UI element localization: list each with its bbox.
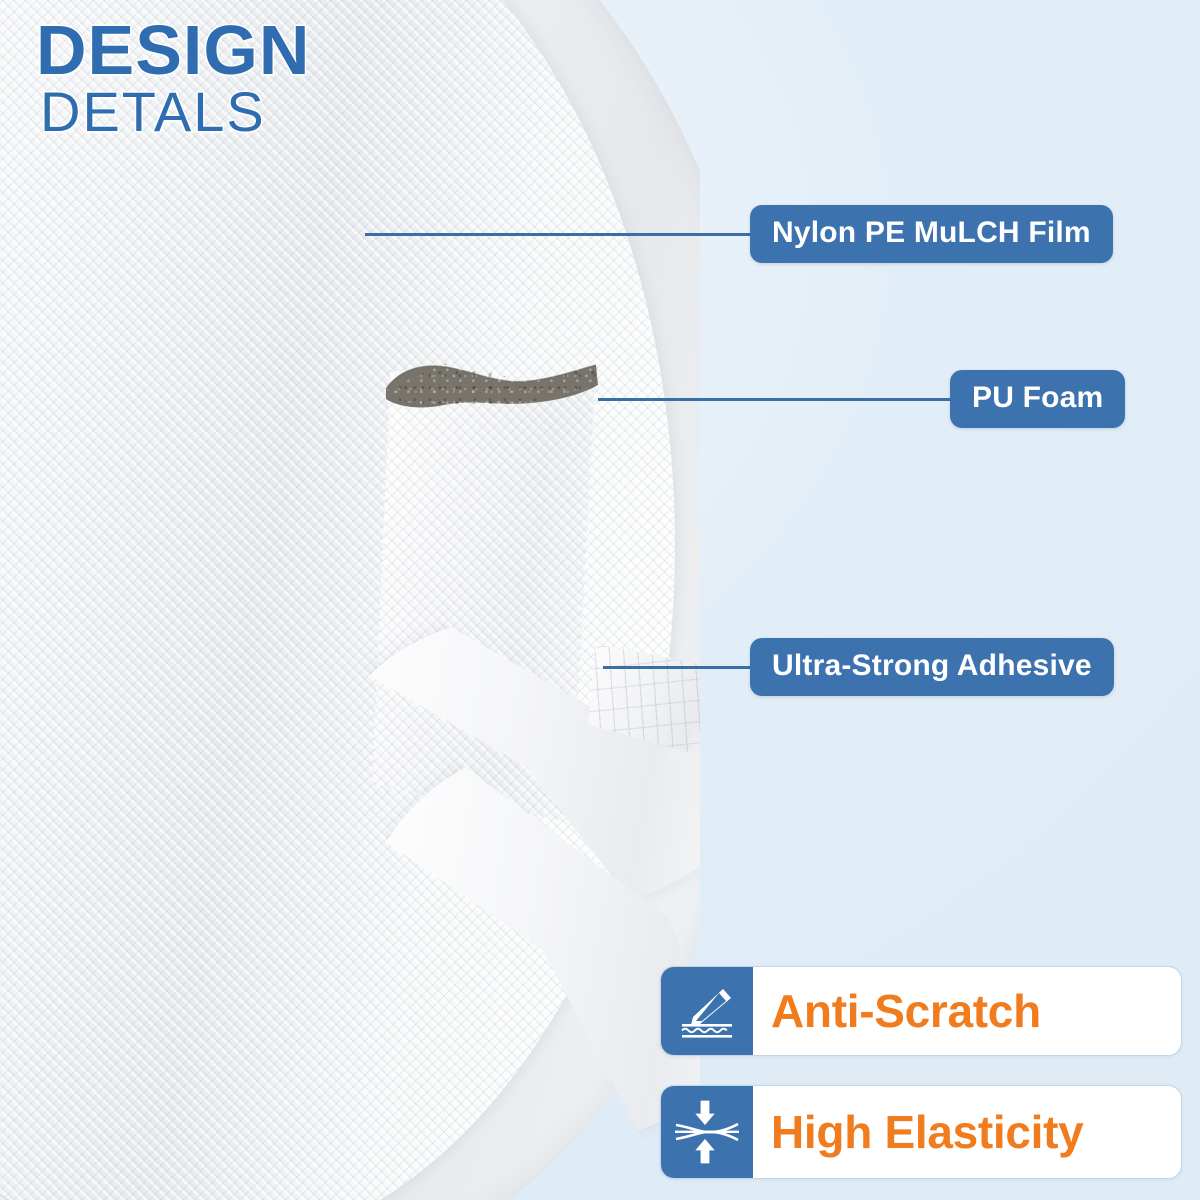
title-line-design: DESIGN	[36, 18, 310, 82]
callout-ultra-strong-adhesive: Ultra-Strong Adhesive	[603, 638, 1114, 696]
infographic-canvas: DESIGN DETALS Nylon PE MuLCH Film PU Foa…	[0, 0, 1200, 1200]
callout-label: Nylon PE MuLCH Film	[750, 205, 1113, 263]
callout-label: Ultra-Strong Adhesive	[750, 638, 1114, 696]
blade-on-surface-icon	[661, 967, 753, 1055]
pu-foam-core	[380, 355, 602, 445]
compression-arrows-icon	[661, 1086, 753, 1178]
leader-line	[603, 666, 750, 669]
title-line-details: DETALS	[40, 86, 310, 138]
feature-label: High Elasticity	[753, 1086, 1181, 1178]
leader-line	[365, 233, 750, 236]
feature-badge-anti-scratch: Anti-Scratch	[660, 966, 1182, 1056]
callout-label: PU Foam	[950, 370, 1125, 428]
page-title: DESIGN DETALS	[36, 18, 310, 138]
feature-badge-high-elasticity: High Elasticity	[660, 1085, 1182, 1179]
callout-pu-foam: PU Foam	[598, 370, 1125, 428]
leader-line	[598, 398, 950, 401]
callout-nylon-pe-mulch-film: Nylon PE MuLCH Film	[365, 205, 1113, 263]
feature-label: Anti-Scratch	[753, 967, 1181, 1055]
product-photo	[0, 0, 700, 1200]
